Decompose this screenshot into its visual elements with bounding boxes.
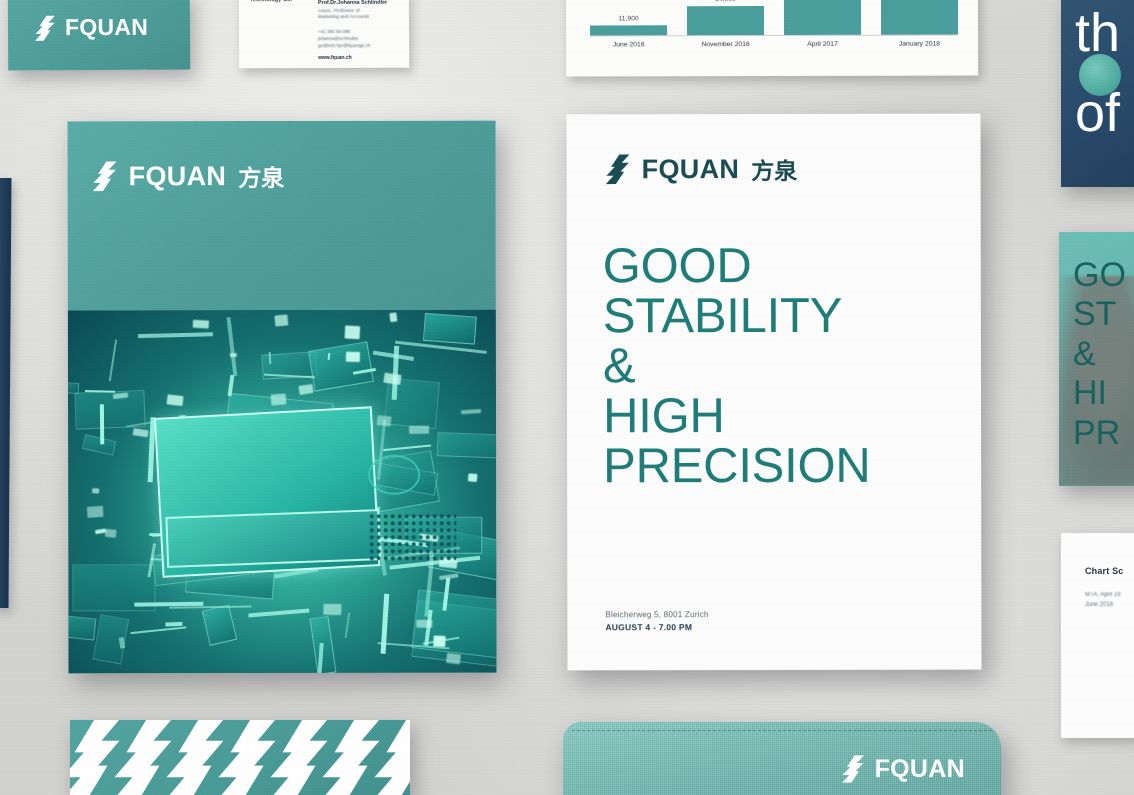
chart-bar (687, 6, 764, 35)
card-person-role: Assoc. Professor of Marketing and Accoun… (318, 8, 402, 22)
circuit-component (461, 409, 481, 414)
poster-headline-line-1: GOOD (603, 242, 961, 293)
circuit-board-photo (68, 310, 497, 674)
navy-panel-line-1: th (1075, 6, 1120, 60)
circuit-component (416, 620, 432, 629)
circuit-dot-grid (368, 513, 456, 561)
circuit-component (409, 426, 429, 435)
chart-bar-column (784, 0, 861, 35)
circuit-component (389, 313, 397, 323)
logo-lockup: FQUAN (841, 754, 965, 784)
circuit-component (323, 604, 341, 615)
circuit-component (446, 653, 461, 665)
circuit-trace (166, 622, 183, 626)
circuit-slab (423, 312, 476, 344)
navy-poster-panel: th of (1061, 0, 1134, 187)
teal-headline-line-4: HI (1073, 374, 1126, 413)
circuit-trace (100, 404, 104, 444)
chart-bar (881, 0, 958, 35)
logo-wordmark: FQUAN (129, 161, 227, 192)
pattern-card (70, 720, 410, 795)
brochure-cover: FQUAN 方泉 (68, 121, 497, 674)
pouch-stitch-line (572, 730, 992, 731)
chart-value-label: 34,000 (715, 0, 736, 3)
circuit-component (132, 428, 148, 437)
circuit-component (298, 384, 313, 395)
chart-bar (590, 25, 667, 35)
sheet-subtitle: MTA, April 19 June 2016 (1085, 590, 1121, 610)
teal-panel-headline: GOST&HIPR (1073, 256, 1126, 453)
circuit-component (87, 506, 104, 518)
teal-headline-line-5: PR (1073, 414, 1126, 453)
navy-edge-sliver (0, 178, 12, 608)
fquan-interlock-logo-icon (605, 153, 631, 185)
teal-headline-line-2: ST (1073, 295, 1126, 334)
circuit-slab (308, 341, 374, 391)
circuit-component (346, 351, 360, 362)
circuit-slab (82, 434, 116, 455)
event-poster: FQUAN 方泉 GOODSTABILITY&HIGHPRECISION Ble… (567, 114, 982, 671)
circuit-component (167, 394, 184, 406)
logo-wordmark: FQUAN (642, 154, 740, 185)
card-contact: +41 382 56 086 johanna@schlindler go@inf… (318, 29, 402, 50)
chart-value-label: 11,900 (619, 15, 639, 22)
fquan-interlock-logo-icon (841, 754, 865, 784)
navy-panel-line-2: of (1075, 86, 1120, 140)
circuit-trace (130, 626, 186, 634)
fquan-interlock-logo-icon (34, 15, 56, 41)
logo-wordmark: FQUAN (875, 755, 965, 784)
circuit-trace (248, 608, 309, 617)
bar-chart: 11,90034,000 June 2016November 2016April… (590, 0, 958, 54)
chart-bar (784, 0, 861, 35)
fquan-interlock-logo-icon (92, 160, 118, 192)
teal-headline-line-1: GO (1073, 256, 1126, 295)
logo-lockup: FQUAN 方泉 (92, 159, 285, 193)
circuit-component (468, 474, 478, 483)
circuit-trace (226, 317, 237, 376)
logo-chinese-name: 方泉 (238, 159, 284, 193)
chart-bar-column (881, 0, 958, 35)
card-details: Prof.Dr.Johanna Schlindler Assoc. Profes… (318, 0, 402, 61)
teal-poster-panel: GOST&HIPR (1059, 232, 1134, 486)
poster-headline-line-4: HIGH (603, 392, 961, 443)
circuit-component (345, 325, 361, 338)
card-corner-label: Technology Co. (250, 0, 292, 3)
circuit-component (274, 314, 288, 326)
sheet-subtitle-line-1: MTA, April 19 (1085, 590, 1121, 600)
logo-wordmark: FQUAN (65, 14, 148, 41)
circuit-component (433, 635, 445, 647)
circuit-round-pad (368, 455, 420, 495)
circuit-slab (437, 432, 497, 459)
branding-mockup-board: FQUAN Technology Co. Prof.Dr.Johanna Sch… (0, 0, 1134, 795)
circuit-trace (137, 332, 212, 337)
chart-x-tick-label: April 2017 (784, 41, 861, 48)
white-business-card: Technology Co. Prof.Dr.Johanna Schlindle… (239, 0, 409, 68)
logo-chinese-name: 方泉 (751, 152, 797, 186)
circuit-slab (68, 614, 97, 640)
chart-x-tick-label: June 2016 (590, 41, 667, 48)
circuit-slab (201, 604, 237, 645)
chart-bar-column: 34,000 (687, 0, 764, 35)
circuit-component (383, 373, 401, 385)
circuit-component (377, 415, 392, 427)
poster-datetime: AUGUST 4 - 7.00 PM (605, 622, 708, 632)
chart-x-axis: June 2016November 2016April 2017January … (590, 41, 958, 49)
logo-lockup: FQUAN (34, 14, 148, 42)
chart-section-sheet: Chart Sc MTA, April 19 June 2016 (1061, 533, 1134, 738)
circuit-component (92, 488, 99, 494)
card-role-line-2: Marketing and Accounts (318, 15, 402, 22)
circuit-lower-chip (166, 509, 382, 568)
chart-bar-column: 11,900 (590, 0, 667, 35)
poster-headline-line-5: PRECISION (603, 442, 961, 493)
circuit-trace (344, 612, 350, 637)
chart-x-tick-label: November 2016 (687, 41, 764, 48)
circuit-component (271, 394, 287, 406)
chart-plot-area: 11,90034,000 (590, 0, 958, 36)
circuit-component (105, 528, 117, 537)
circuit-trace (383, 444, 431, 450)
teal-headline-line-3: & (1073, 335, 1126, 374)
logo-lockup: FQUAN 方泉 (605, 152, 798, 186)
poster-headline-line-3: & (603, 342, 961, 393)
sheet-title: Chart Sc (1085, 566, 1123, 576)
brochure-header-band: FQUAN 方泉 (68, 121, 496, 311)
chart-sheet: 11,90034,000 June 2016November 2016April… (566, 0, 978, 77)
sheet-subtitle-line-2: June 2016 (1085, 600, 1121, 610)
circuit-trace (109, 340, 117, 382)
card-contact-line-3: go@info.fqn@fquangp.ch (318, 43, 402, 50)
card-person-name: Prof.Dr.Johanna Schlindler (318, 0, 402, 6)
circuit-slab (68, 382, 80, 394)
circuit-component (192, 319, 208, 328)
circuit-slab (93, 614, 130, 664)
circuit-trace (135, 601, 204, 606)
circuit-component (230, 353, 238, 357)
poster-footer: Bleicherweg 5, 8001 Zurich AUGUST 4 - 7.… (605, 610, 708, 632)
chart-x-tick-label: January 2018 (881, 41, 958, 48)
poster-headline-line-2: STABILITY (603, 292, 961, 343)
teal-business-card: FQUAN (8, 0, 190, 70)
card-website: www.fquan.ch (318, 55, 402, 61)
poster-headline: GOODSTABILITY&HIGHPRECISION (603, 242, 961, 492)
fabric-pouch: FQUAN (563, 722, 1001, 795)
poster-address: Bleicherweg 5, 8001 Zurich (605, 610, 708, 619)
pattern-logo-unit (370, 720, 410, 795)
